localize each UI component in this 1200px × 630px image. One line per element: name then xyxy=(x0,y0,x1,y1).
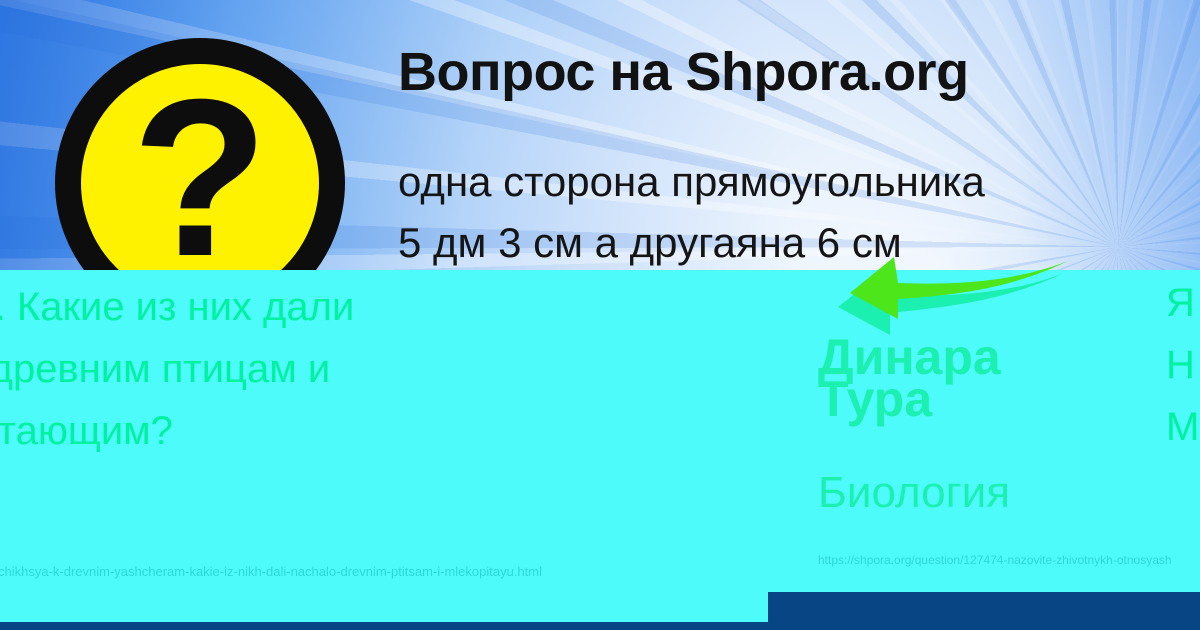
author-name: Динара Тура xyxy=(818,336,1148,420)
footer-bar-right-block xyxy=(768,592,1200,630)
overlay-question-text: щерам. Какие из них дали ачало древним п… xyxy=(0,276,708,462)
url-right[interactable]: https://shpora.org/question/127474-nazov… xyxy=(818,553,1200,567)
reply-arrow-body xyxy=(850,257,1068,319)
screenshot-canvas: ? Вопрос на Shpora.org одна сторона прям… xyxy=(0,0,1200,630)
overlay-right-clipped-text: Я Н М xyxy=(1166,272,1200,458)
subject-label: Биология xyxy=(818,468,1010,518)
page-title: Вопрос на Shpora.org xyxy=(398,44,1188,101)
url-left[interactable]: chikhsya-k-drevnim-yashcheram-kakie-iz-n… xyxy=(0,564,542,579)
question-line-1: одна сторона прямоугольника xyxy=(398,152,1198,213)
question-text: одна сторона прямоугольника 5 дм 3 см а … xyxy=(398,152,1198,274)
question-line-2: 5 дм 3 см а другаяна 6 см xyxy=(398,213,1198,274)
question-mark-glyph: ? xyxy=(132,87,269,271)
overlay-panel-footer-extension xyxy=(0,608,768,622)
